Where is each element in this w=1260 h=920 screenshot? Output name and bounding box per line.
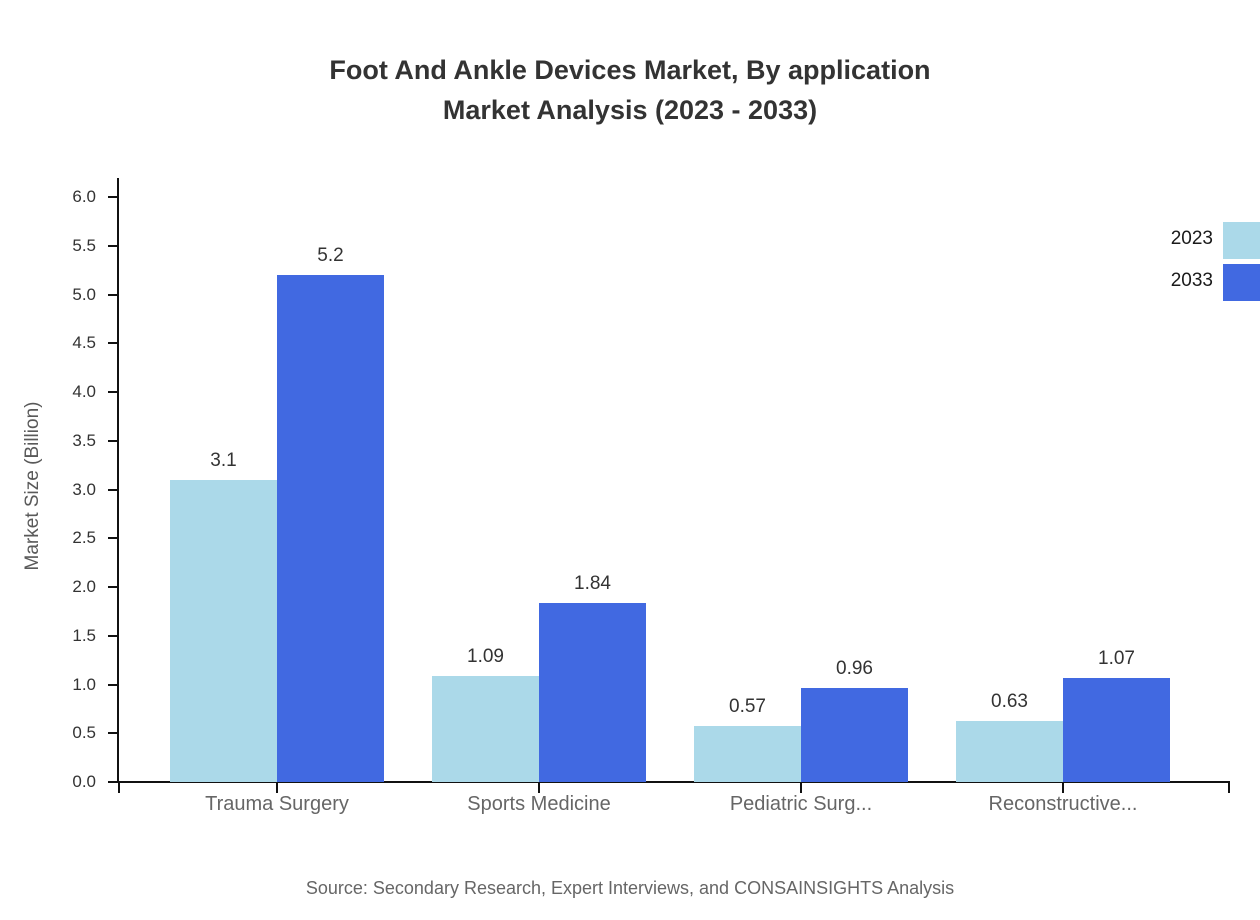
- bar-2033-1[interactable]: [277, 275, 384, 782]
- bar-value-label: 1.09: [416, 646, 556, 668]
- legend-label-2023[interactable]: 2023: [1093, 228, 1213, 250]
- bar-value-label: 0.96: [785, 658, 925, 680]
- y-axis-tick-label: 1.0: [36, 675, 96, 695]
- bar-2023-1[interactable]: [170, 480, 277, 782]
- y-axis-tick: [108, 781, 118, 783]
- chart-title-line-1: Foot And Ankle Devices Market, By applic…: [329, 55, 930, 85]
- legend-swatch-2033[interactable]: [1223, 264, 1260, 301]
- y-axis-tick-label: 5.5: [36, 236, 96, 256]
- bar-chart: Foot And Ankle Devices Market, By applic…: [0, 0, 1260, 920]
- y-axis-tick-label: 0.0: [36, 772, 96, 792]
- bar-2033-2[interactable]: [539, 603, 646, 782]
- source-note: Source: Secondary Research, Expert Inter…: [0, 878, 1260, 899]
- y-axis-tick: [108, 196, 118, 198]
- y-axis-tick: [108, 537, 118, 539]
- bar-value-label: 1.84: [523, 573, 663, 595]
- y-axis-tick-label: 3.0: [36, 480, 96, 500]
- y-axis-tick-label: 2.5: [36, 528, 96, 548]
- y-axis-tick-label: 5.0: [36, 285, 96, 305]
- y-axis-tick: [108, 684, 118, 686]
- x-axis-tick-label: Pediatric Surg...: [651, 793, 951, 816]
- x-axis-tick: [1228, 783, 1230, 793]
- x-axis-tick: [538, 783, 540, 793]
- y-axis-tick: [108, 294, 118, 296]
- bar-2023-4[interactable]: [956, 721, 1063, 782]
- x-axis-tick-label: Trauma Surgery: [127, 793, 427, 816]
- y-axis-tick: [108, 245, 118, 247]
- bar-value-label: 1.07: [1047, 648, 1187, 670]
- chart-title-line-2: Market Analysis (2023 - 2033): [0, 90, 1260, 130]
- bar-2023-3[interactable]: [694, 726, 801, 782]
- y-axis-tick-label: 6.0: [36, 187, 96, 207]
- x-axis-tick: [276, 783, 278, 793]
- x-axis-tick: [118, 783, 120, 793]
- legend-swatch-2023[interactable]: [1223, 222, 1260, 259]
- y-axis-tick: [108, 391, 118, 393]
- y-axis-tick: [108, 732, 118, 734]
- y-axis-tick-label: 4.5: [36, 333, 96, 353]
- x-axis-tick-label: Reconstructive...: [913, 793, 1213, 816]
- bar-value-label: 0.63: [940, 691, 1080, 713]
- y-axis-tick: [108, 586, 118, 588]
- y-axis-tick: [108, 489, 118, 491]
- x-axis-tick: [800, 783, 802, 793]
- y-axis-spine: [117, 178, 119, 783]
- legend-label-2033[interactable]: 2033: [1093, 270, 1213, 292]
- y-axis-tick-label: 0.5: [36, 723, 96, 743]
- y-axis-tick-label: 2.0: [36, 577, 96, 597]
- bar-value-label: 3.1: [154, 450, 294, 472]
- y-axis-tick-label: 1.5: [36, 626, 96, 646]
- y-axis-tick: [108, 440, 118, 442]
- y-axis-tick: [108, 342, 118, 344]
- chart-title: Foot And Ankle Devices Market, By applic…: [0, 50, 1260, 130]
- y-axis-tick-label: 4.0: [36, 382, 96, 402]
- x-axis-tick: [1062, 783, 1064, 793]
- y-axis-tick: [108, 635, 118, 637]
- bar-value-label: 5.2: [261, 245, 401, 267]
- x-axis-tick-label: Sports Medicine: [389, 793, 689, 816]
- bar-value-label: 0.57: [678, 696, 818, 718]
- y-axis-tick-label: 3.5: [36, 431, 96, 451]
- bar-2023-2[interactable]: [432, 676, 539, 782]
